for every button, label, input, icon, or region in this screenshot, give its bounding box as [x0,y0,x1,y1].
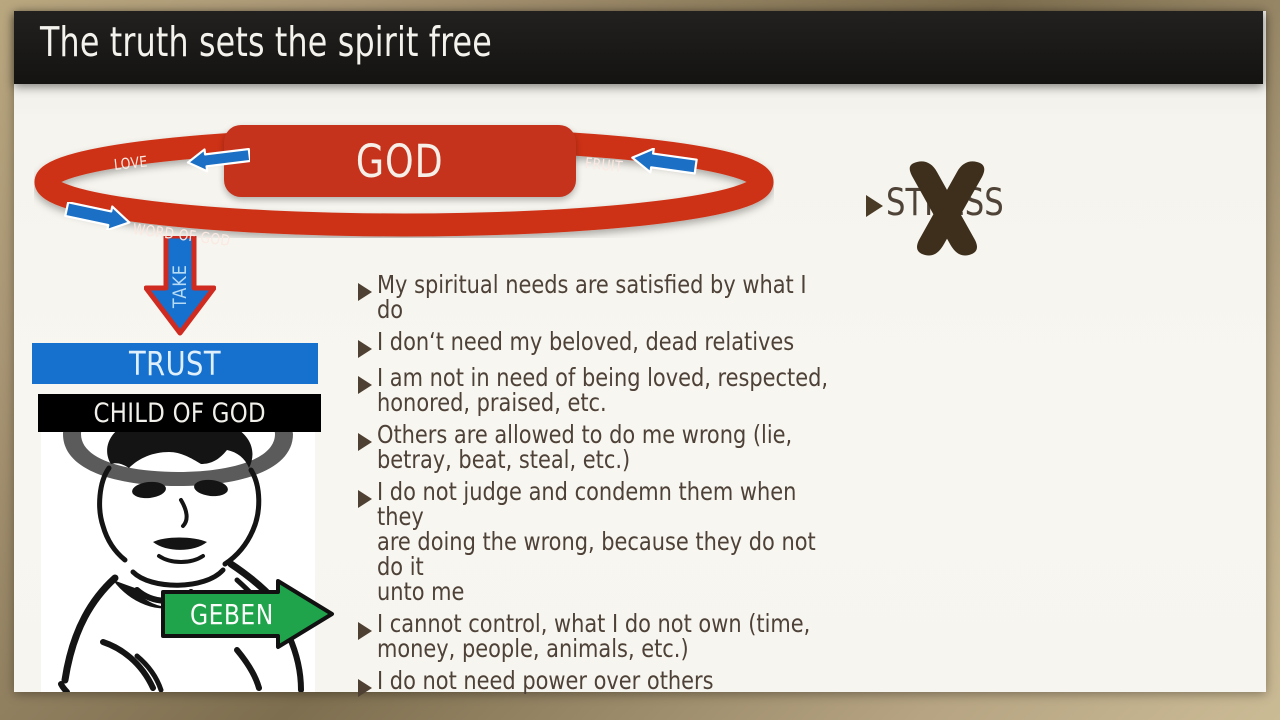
geben-arrow: GEBEN [160,578,335,650]
list-item: I don‘t need my beloved, dead relatives [358,329,863,358]
word-of-god-arrow-icon [64,202,134,230]
stress-bullet-icon [866,195,883,217]
god-cycle-diagram: GOD LOVE WORD OF GOD FRUIT [34,128,774,238]
list-item: I do not need power over others [358,668,863,697]
slide: The truth sets the spirit free GOD LOVE … [0,0,1280,720]
fruit-arrow-icon [628,148,698,176]
list-item-text: Others are allowed to do me wrong (lie, … [377,422,792,472]
list-item-text: I cannot control, what I do not own (tim… [377,611,810,661]
list-item-text: I don‘t need my beloved, dead relatives [377,329,794,354]
geben-arrow-label: GEBEN [190,598,274,631]
bullet-triangle-icon [358,490,372,508]
bullet-triangle-icon [358,433,372,451]
love-arrow-icon [184,148,250,174]
slide-title-bar: The truth sets the spirit free [14,11,1263,84]
cross-out-x-icon [899,154,995,259]
trust-bar: TRUST [32,343,318,384]
bullet-triangle-icon [358,679,372,697]
stress-crossed-out: STRESS [866,181,1046,239]
statement-list: My spiritual needs are satisfied by what… [358,272,863,704]
list-item: I do not judge and condemn them when the… [358,479,863,604]
take-arrow: TAKE [144,236,216,336]
bullet-triangle-icon [358,376,372,394]
list-item: My spiritual needs are satisfied by what… [358,272,863,322]
list-item: I cannot control, what I do not own (tim… [358,611,863,661]
page-title: The truth sets the spirit free [40,18,492,66]
child-of-god-label: CHILD OF GOD [93,398,265,429]
list-item-text: I do not need power over others [377,668,714,693]
bullet-triangle-icon [358,340,372,358]
god-label: GOD [356,135,444,188]
list-item-text: I am not in need of being loved, respect… [377,365,828,415]
ring-label-love: LOVE [113,153,148,174]
list-item: Others are allowed to do me wrong (lie, … [358,422,863,472]
bullet-triangle-icon [358,283,372,301]
take-arrow-label: TAKE [169,264,191,308]
ring-label-fruit: FRUIT [584,154,624,176]
god-center-box: GOD [224,125,576,197]
bullet-triangle-icon [358,622,372,640]
child-of-god-bar: CHILD OF GOD [38,394,321,432]
trust-label: TRUST [129,344,221,383]
list-item: I am not in need of being loved, respect… [358,365,863,415]
list-item-text: My spiritual needs are satisfied by what… [377,272,829,322]
list-item-text: I do not judge and condemn them when the… [377,479,829,604]
